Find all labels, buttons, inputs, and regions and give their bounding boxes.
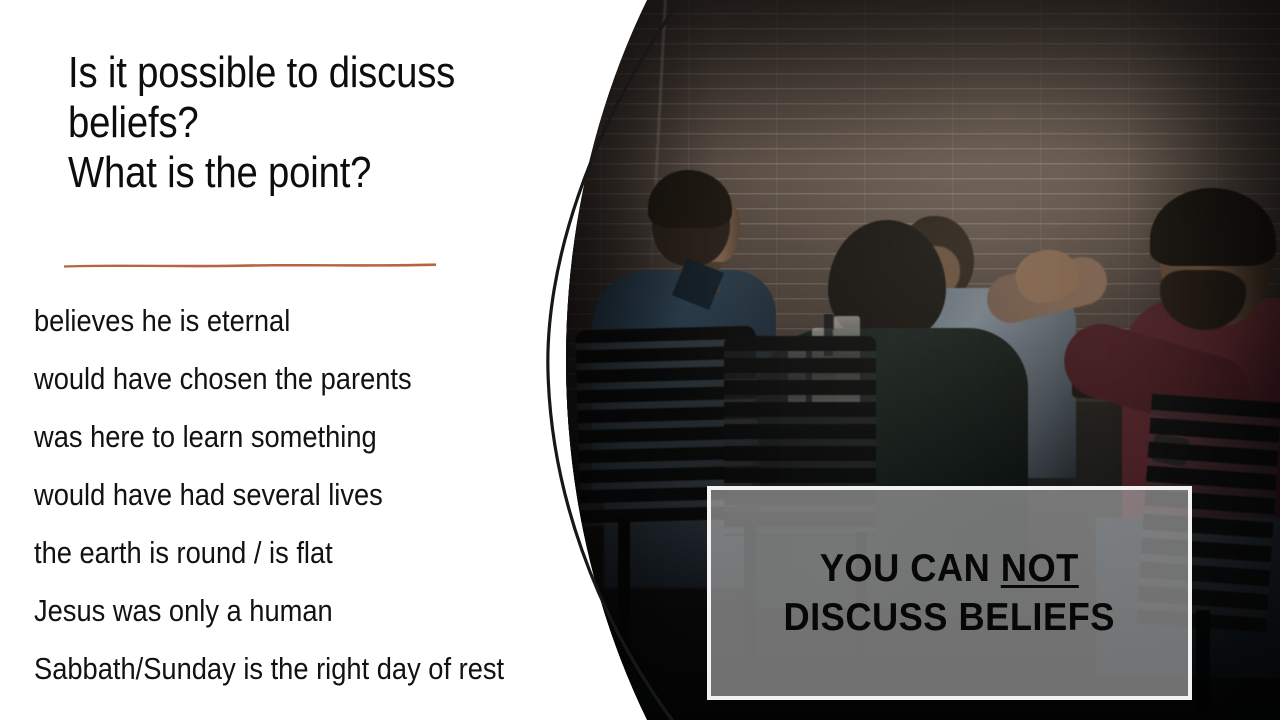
list-item: would have had several lives bbox=[34, 466, 536, 524]
list-item: would have chosen the parents bbox=[34, 350, 536, 408]
chair-leg-1 bbox=[618, 518, 630, 678]
list-item: the earth is round / is flat bbox=[34, 524, 536, 582]
caption-line-1: YOU CAN NOT bbox=[820, 544, 1079, 593]
title-line-2: What is the point? bbox=[68, 148, 477, 198]
chair-leg-4 bbox=[1196, 610, 1210, 718]
caption-emphasis-not: NOT bbox=[1001, 547, 1079, 590]
caption-overlay-box: YOU CAN NOT DISCUSS BELIEFS bbox=[707, 486, 1192, 700]
caption-line-2: DISCUSS BELIEFS bbox=[784, 593, 1115, 642]
brush-divider bbox=[62, 261, 438, 268]
list-item: Sabbath/Sunday is the right day of rest bbox=[34, 640, 536, 698]
list-item: Jesus was only a human bbox=[34, 582, 536, 640]
list-item: was here to learn something bbox=[34, 408, 536, 466]
list-item: believes he is eternal bbox=[34, 292, 536, 350]
title-line-1: Is it possible to discuss beliefs? bbox=[68, 48, 477, 148]
belief-statement-list: believes he is eternal would have chosen… bbox=[34, 292, 604, 698]
caption-line-1-prefix: YOU CAN bbox=[820, 547, 1001, 590]
slide-title: Is it possible to discuss beliefs? What … bbox=[68, 48, 538, 198]
slide-canvas: Is it possible to discuss beliefs? What … bbox=[0, 0, 1280, 720]
